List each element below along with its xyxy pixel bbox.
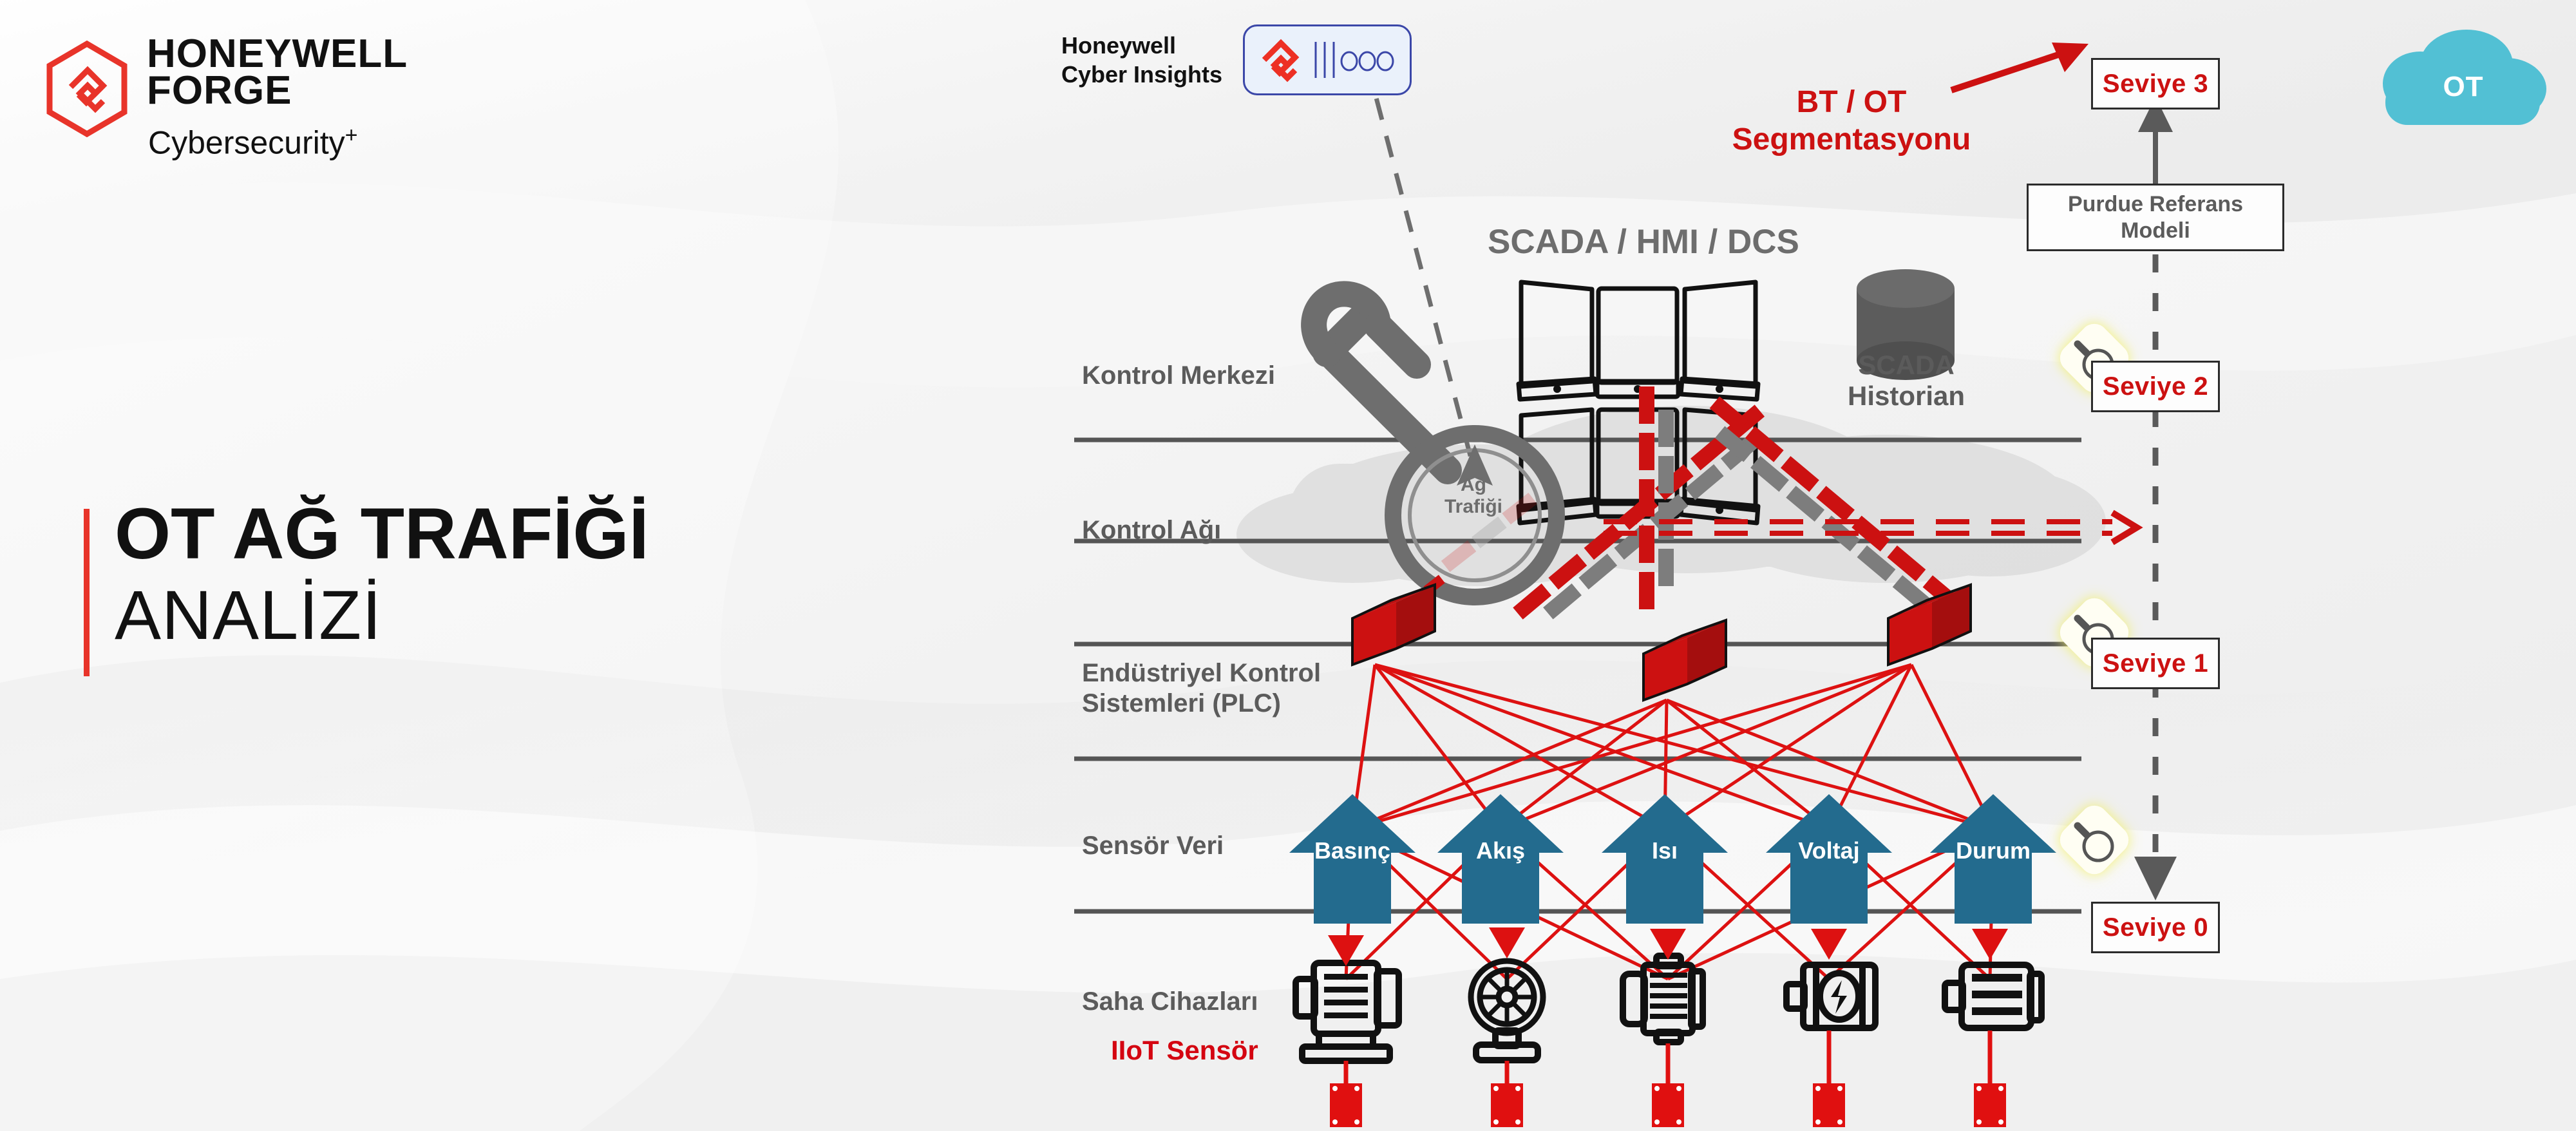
iiot-sensor-icon xyxy=(1974,1031,2006,1127)
sensor-label-pressure: Basınç xyxy=(1288,837,1417,864)
row-label-control-center: Kontrol Merkezi xyxy=(1082,361,1275,391)
bolt-glyph xyxy=(1831,980,1847,1014)
scada-historian-label: SCADA Historian xyxy=(1823,350,1990,412)
level-3-box: Seviye 3 xyxy=(2091,58,2220,109)
sensor-label-status: Durum xyxy=(1929,837,2058,864)
network-traffic-line2: Trafiği xyxy=(1416,496,1531,518)
row-label-ics-line1: Endüstriyel Kontrol xyxy=(1082,658,1385,689)
sensor-label-voltage: Voltaj xyxy=(1765,837,1893,864)
level-1-box: Seviye 1 xyxy=(2091,638,2220,689)
motor-device-icon xyxy=(1623,956,1703,1042)
cyber-insights-label: Honeywell Cyber Insights xyxy=(1061,31,1235,89)
sensor-label-temperature: Isı xyxy=(1600,837,1729,864)
device-arrowheads xyxy=(1328,927,2008,966)
network-traffic-line1: Ağ xyxy=(1416,474,1531,496)
cyber-insights-card[interactable] xyxy=(1243,24,1412,95)
row-label-control-network: Kontrol Ağı xyxy=(1082,515,1221,546)
ot-cloud-badge: OT xyxy=(2370,24,2557,134)
iiot-sensor-icon xyxy=(1813,1031,1845,1127)
fan-device-icon xyxy=(1471,961,1543,1060)
row-label-ics-plc: Endüstriyel Kontrol Sistemleri (PLC) xyxy=(1082,658,1385,719)
iiot-sensor-label: IIoT Sensör xyxy=(1111,1035,1258,1066)
plc-cube xyxy=(1643,620,1726,700)
iiot-sensor-icon xyxy=(1330,1061,1362,1127)
segmentation-line2: Segmentasyonu xyxy=(1713,121,1990,158)
historian-line2: Historian xyxy=(1823,381,1990,412)
ot-cloud-label: OT xyxy=(2370,24,2557,134)
row-label-sensor-data: Sensör Veri xyxy=(1082,831,1224,861)
vertical-bars-icon xyxy=(1316,42,1334,78)
historian-line1: SCADA xyxy=(1823,350,1990,381)
purdue-reference-model-box: Purdue Referans Modeli xyxy=(2027,184,2284,251)
level-0-box: Seviye 0 xyxy=(2091,902,2220,953)
level-2-box: Seviye 2 xyxy=(2091,361,2220,412)
network-traffic-label: Ağ Trafiği xyxy=(1416,474,1531,517)
cyber-insights-glyphs xyxy=(1255,34,1397,86)
purdue-diagram xyxy=(0,0,2576,1131)
motor-fins xyxy=(1324,974,1368,1018)
plc-cube xyxy=(1352,585,1435,665)
iiot-sensor-icon xyxy=(1652,1043,1684,1127)
iiot-sensor-icon xyxy=(1491,1061,1523,1127)
row-label-field-devices: Saha Cihazları xyxy=(1082,987,1258,1017)
purdue-line1: Purdue Referans xyxy=(2068,191,2243,218)
purdue-line2: Modeli xyxy=(2068,218,2243,244)
cyber-insights-label-line1: Honeywell xyxy=(1061,31,1235,60)
power-device-icon xyxy=(1786,965,1875,1028)
cyber-insights-label-line2: Cyber Insights xyxy=(1061,60,1235,89)
three-circles-icon xyxy=(1341,52,1393,70)
sensor-label-flow: Akış xyxy=(1436,837,1565,864)
plc-cube xyxy=(1888,585,1971,665)
scada-hmi-dcs-heading: SCADA / HMI / DCS xyxy=(1488,222,1799,261)
segmentation-line1: BT / OT xyxy=(1713,84,1990,121)
motor-fins xyxy=(1972,974,2022,1015)
segmentation-label: BT / OT Segmentasyonu xyxy=(1713,84,1990,158)
row-label-ics-line2: Sistemleri (PLC) xyxy=(1082,689,1385,719)
segmentation-callout-arrow xyxy=(1951,43,2088,90)
iiot-sensor-group xyxy=(1330,1031,2006,1127)
inspection-badge xyxy=(2054,800,2134,880)
honeywell-mark-icon xyxy=(1264,43,1295,78)
